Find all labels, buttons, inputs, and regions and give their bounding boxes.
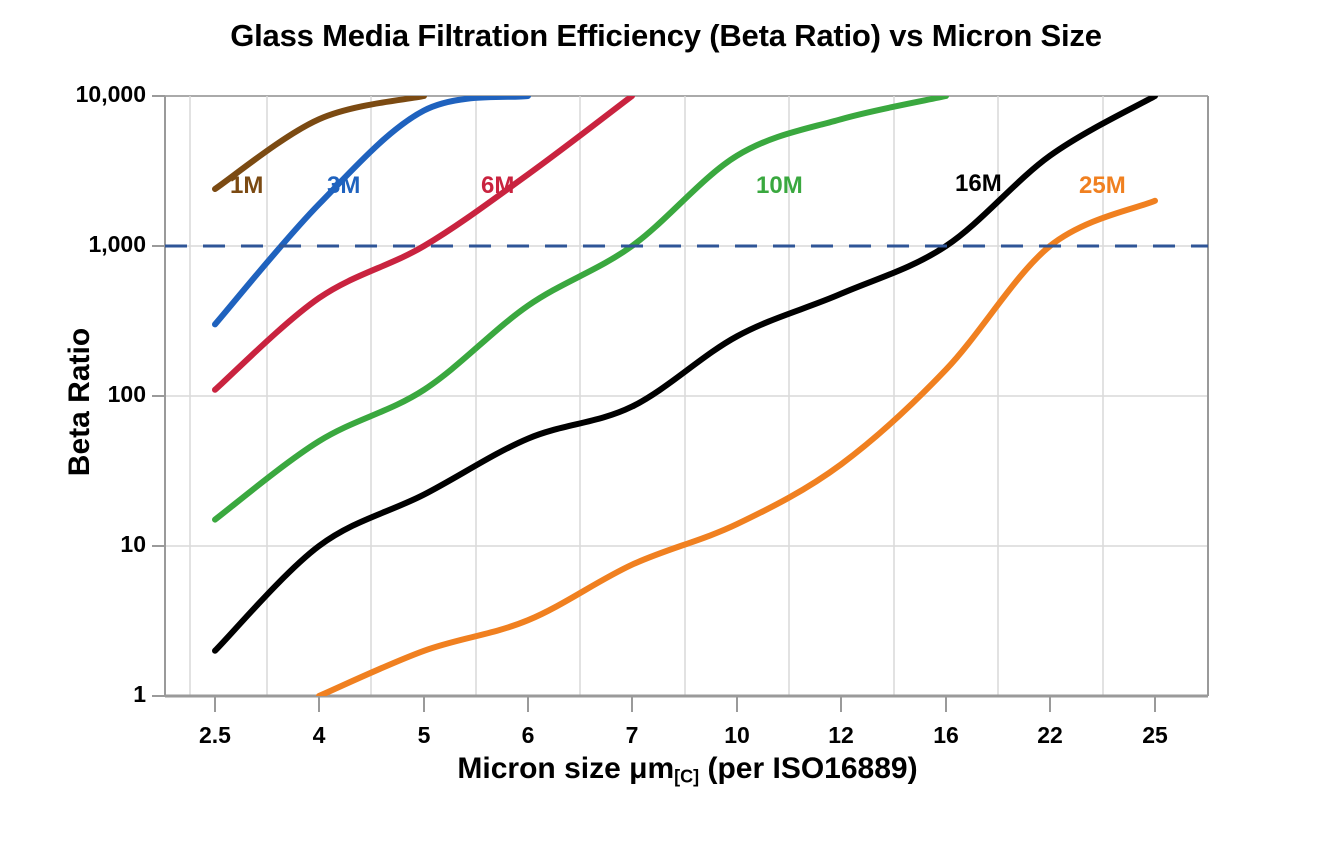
chart-container: Glass Media Filtration Efficiency (Beta …	[0, 0, 1332, 842]
y-axis-tick-label: 1	[6, 681, 146, 708]
y-axis-ticks	[152, 96, 165, 696]
x-axis-title-tail: (per ISO16889)	[699, 752, 917, 785]
y-axis-tick-label: 1,000	[6, 231, 146, 258]
series-label-3m: 3M	[327, 172, 360, 200]
x-axis-title: Micron size μm[C] (per ISO16889)	[165, 752, 1210, 788]
series-label-25m: 25M	[1079, 172, 1126, 200]
x-axis-tick-label: 5	[379, 722, 469, 749]
x-axis-tick-label: 12	[796, 722, 886, 749]
y-axis-tick-label: 10	[6, 531, 146, 558]
grid-lines	[165, 96, 1208, 696]
series-label-1m: 1M	[230, 172, 263, 200]
x-axis-tick-label: 25	[1110, 722, 1200, 749]
x-axis-tick-label: 2.5	[170, 722, 260, 749]
x-axis-tick-label: 7	[587, 722, 677, 749]
series-label-16m: 16M	[955, 170, 1002, 198]
x-axis-tick-label: 22	[1005, 722, 1095, 749]
series-label-6m: 6M	[481, 172, 514, 200]
x-axis-tick-label: 16	[901, 722, 991, 749]
series-label-10m: 10M	[756, 172, 803, 200]
x-axis-tick-label: 6	[483, 722, 573, 749]
x-axis-tick-label: 4	[274, 722, 364, 749]
y-axis-tick-label: 10,000	[6, 81, 146, 108]
y-axis-tick-label: 100	[6, 381, 146, 408]
x-axis-tick-label: 10	[692, 722, 782, 749]
plot-area	[0, 0, 1332, 842]
x-axis-title-subscript: [C]	[674, 767, 699, 787]
series-line-25m	[319, 201, 1155, 696]
x-axis-title-main: Micron size μm	[457, 752, 674, 785]
x-axis-ticks	[215, 696, 1155, 712]
